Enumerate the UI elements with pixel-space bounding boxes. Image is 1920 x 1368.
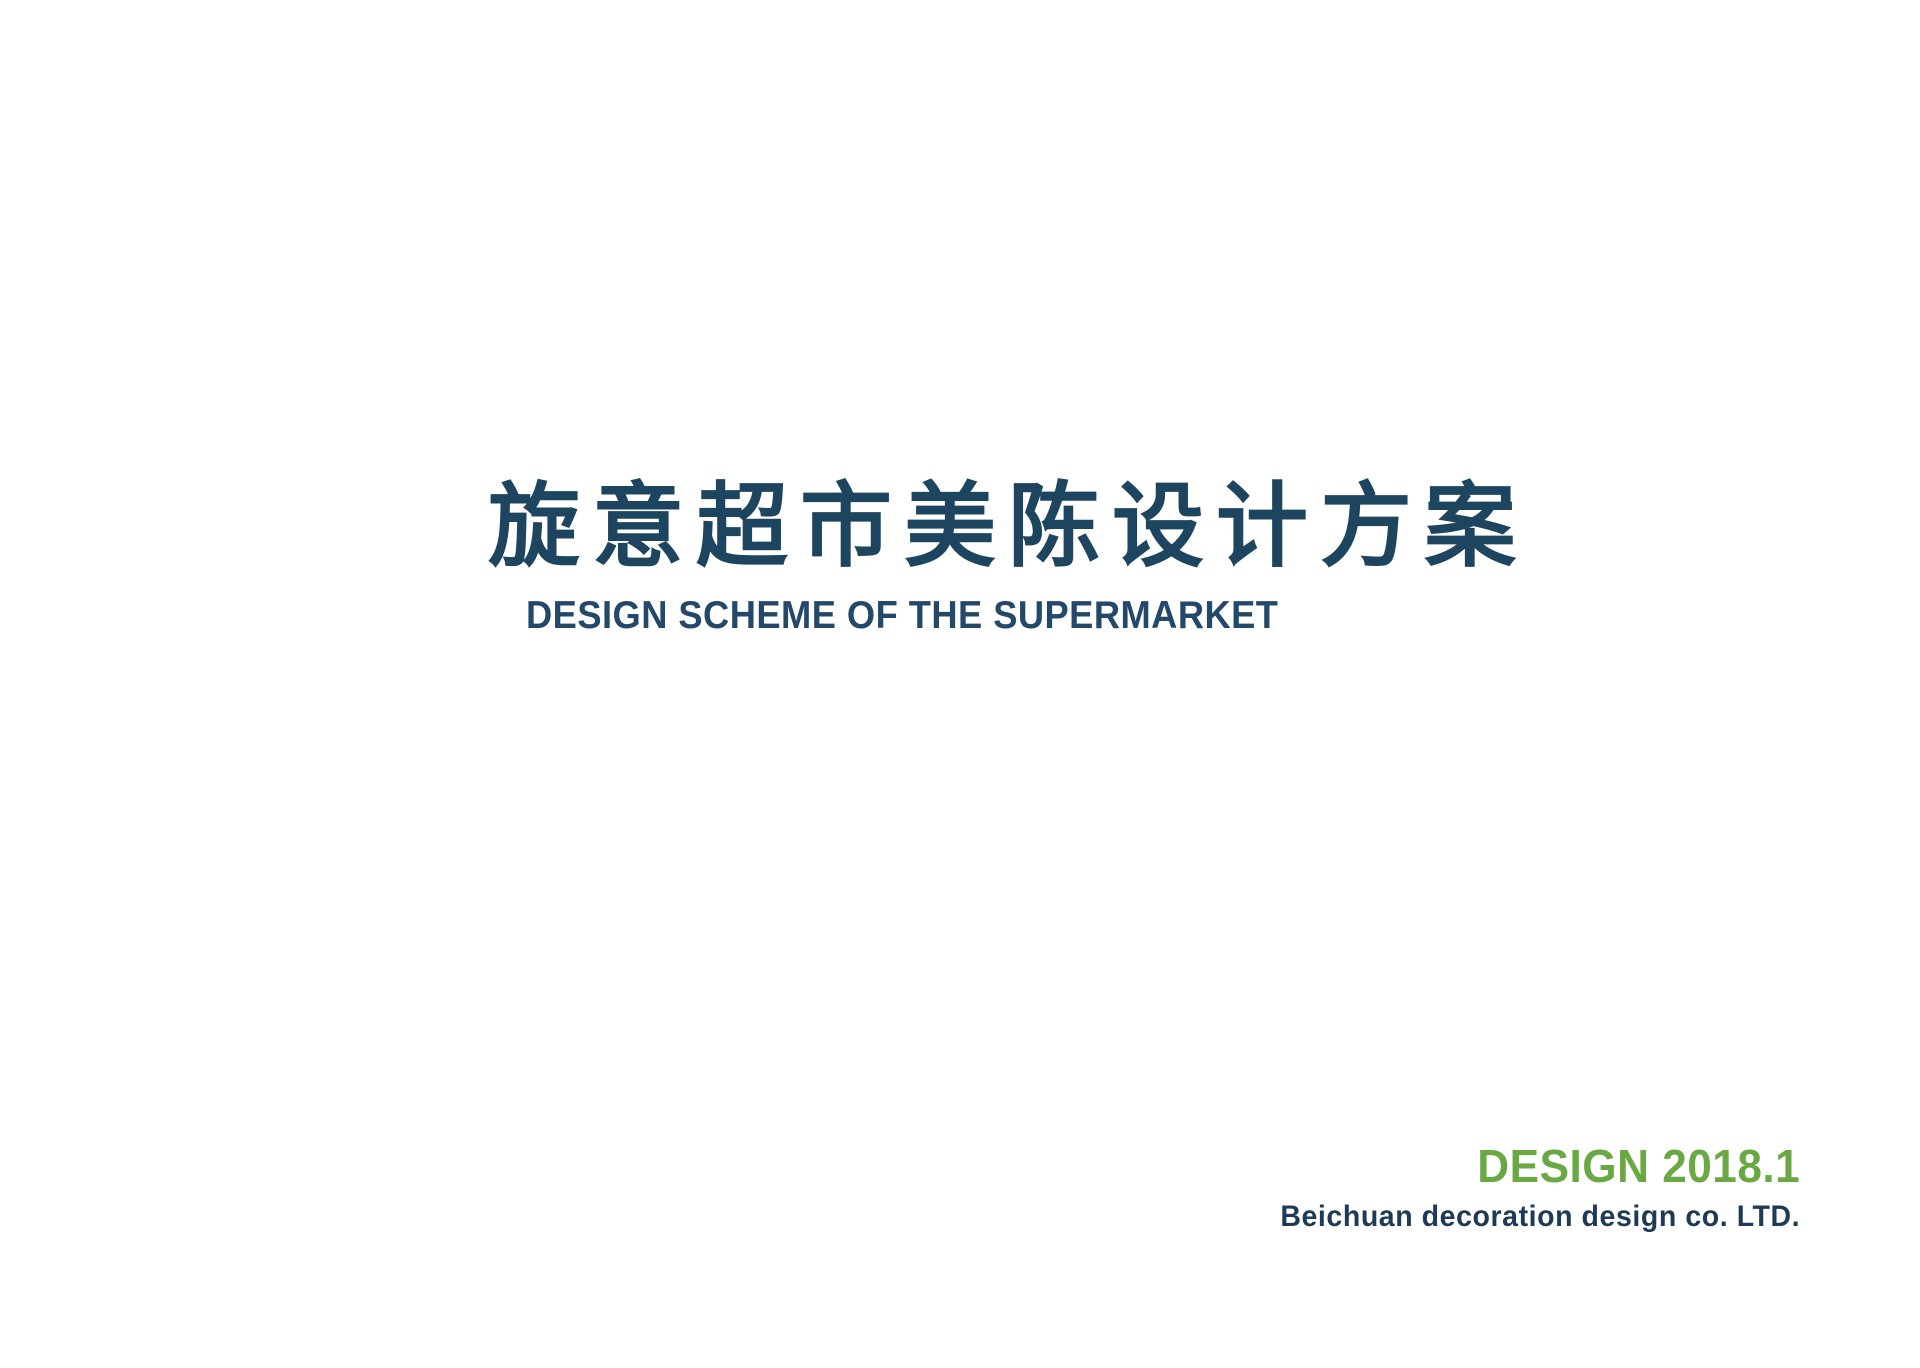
page-subtitle-english: DESIGN SCHEME OF THE SUPERMARKET — [526, 594, 1383, 638]
page-title-chinese: 旋意超市美陈设计方案 — [488, 478, 1448, 576]
footer-design-date: DESIGN 2018.1 — [1275, 1142, 1800, 1190]
footer-block: DESIGN 2018.1 Beichuan decoration design… — [1253, 1142, 1800, 1233]
title-block: 旋意超市美陈设计方案 DESIGN SCHEME OF THE SUPERMAR… — [488, 478, 1448, 638]
footer-company-name: Beichuan decoration design co. LTD. — [1280, 1200, 1800, 1233]
cover-slide: 旋意超市美陈设计方案 DESIGN SCHEME OF THE SUPERMAR… — [0, 0, 1920, 1368]
